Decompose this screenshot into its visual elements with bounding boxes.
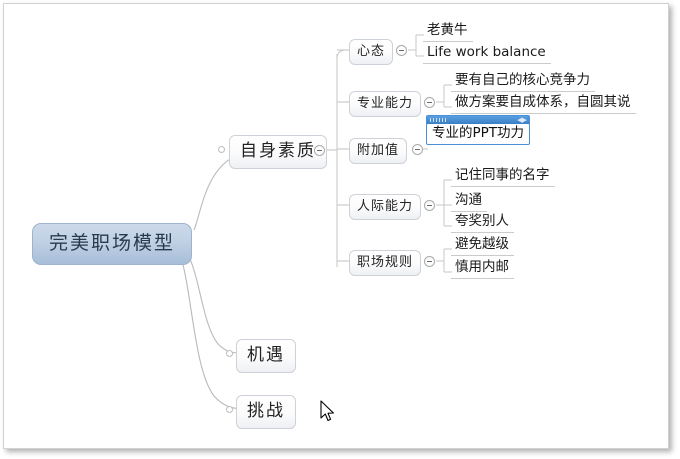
branch-node-challenge-label: 挑战 bbox=[247, 401, 285, 421]
branch-node-self-quality-label: 自身素质 bbox=[240, 141, 316, 161]
subbranch-node-workplace-rules-label: 职场规则 bbox=[357, 255, 413, 270]
leaf-node-old-ox-label: 老黄牛 bbox=[427, 22, 468, 38]
subbranch-node-interpersonal-ability[interactable]: 人际能力 bbox=[349, 194, 421, 220]
leaf-node-careful-internal-mail-label: 慎用内邮 bbox=[455, 259, 509, 275]
resize-horizontal-icon[interactable]: ◀▶ bbox=[517, 117, 526, 124]
leaf-node-communication[interactable]: 沟通 bbox=[451, 192, 487, 212]
leaf-node-core-competitiveness-label: 要有自己的核心竞争力 bbox=[455, 72, 590, 88]
subbranch-node-workplace-rules[interactable]: 职场规则 bbox=[349, 250, 421, 276]
leaf-node-praise-others[interactable]: 夸奖别人 bbox=[451, 213, 514, 233]
leaf-node-life-work-balance[interactable]: Life work balance bbox=[423, 44, 551, 64]
branch-node-opportunity[interactable]: 机遇 bbox=[236, 339, 296, 373]
arrow-cursor bbox=[319, 400, 337, 424]
subbranch-node-professional-ability[interactable]: 专业能力 bbox=[349, 91, 421, 117]
collapse-toggle-professional-ability[interactable] bbox=[424, 97, 435, 108]
selection-handle-bar[interactable]: ◀▶ bbox=[426, 115, 530, 124]
leaf-node-ppt-skill-label: 专业的PPT功力 bbox=[432, 125, 524, 141]
subbranch-node-added-value-label: 附加值 bbox=[357, 143, 399, 158]
mindmap-canvas[interactable]: 完美职场模型 自身素质 机遇 挑战 心态 老黄牛 Life work balan… bbox=[3, 3, 669, 449]
collapse-toggle-workplace-rules[interactable] bbox=[424, 256, 435, 267]
connector-endpoint-challenge bbox=[226, 406, 233, 413]
subbranch-node-interpersonal-ability-label: 人际能力 bbox=[357, 199, 413, 214]
leaf-node-avoid-skip-level-label: 避免越级 bbox=[455, 236, 509, 252]
leaf-node-careful-internal-mail[interactable]: 慎用内邮 bbox=[451, 259, 514, 279]
branch-node-challenge[interactable]: 挑战 bbox=[236, 395, 296, 429]
leaf-node-core-competitiveness[interactable]: 要有自己的核心竞争力 bbox=[451, 72, 595, 92]
subbranch-node-professional-ability-label: 专业能力 bbox=[357, 96, 413, 111]
collapse-toggle-added-value[interactable] bbox=[412, 144, 423, 155]
leaf-node-remember-names-label: 记住同事的名字 bbox=[455, 167, 550, 183]
subbranch-node-mindset-label: 心态 bbox=[357, 44, 385, 59]
leaf-node-praise-others-label: 夸奖别人 bbox=[455, 213, 509, 229]
root-node-label: 完美职场模型 bbox=[49, 232, 175, 254]
leaf-node-self-consistent-proposal[interactable]: 做方案要自成体系，自圆其说 bbox=[451, 94, 636, 114]
leaf-node-avoid-skip-level[interactable]: 避免越级 bbox=[451, 236, 514, 256]
subbranch-node-mindset[interactable]: 心态 bbox=[349, 39, 393, 65]
root-node[interactable]: 完美职场模型 bbox=[32, 223, 192, 265]
branch-node-self-quality[interactable]: 自身素质 bbox=[229, 135, 327, 169]
connector-endpoint-opportunity bbox=[226, 350, 233, 357]
leaf-node-old-ox[interactable]: 老黄牛 bbox=[423, 22, 473, 42]
drag-grip-icon[interactable] bbox=[430, 118, 448, 122]
collapse-toggle-self-quality[interactable] bbox=[314, 145, 325, 156]
leaf-node-life-work-balance-label: Life work balance bbox=[427, 44, 546, 60]
leaf-node-remember-names[interactable]: 记住同事的名字 bbox=[451, 167, 555, 187]
leaf-node-self-consistent-proposal-label: 做方案要自成体系，自圆其说 bbox=[455, 94, 631, 110]
branch-node-opportunity-label: 机遇 bbox=[247, 345, 285, 365]
leaf-node-communication-label: 沟通 bbox=[455, 192, 482, 208]
connector-endpoint-self-quality bbox=[218, 146, 225, 153]
leaf-node-ppt-skill[interactable]: ◀▶ 专业的PPT功力 bbox=[426, 123, 530, 145]
collapse-toggle-mindset[interactable] bbox=[396, 45, 407, 56]
collapse-toggle-interpersonal-ability[interactable] bbox=[424, 200, 435, 211]
subbranch-node-added-value[interactable]: 附加值 bbox=[349, 138, 407, 164]
